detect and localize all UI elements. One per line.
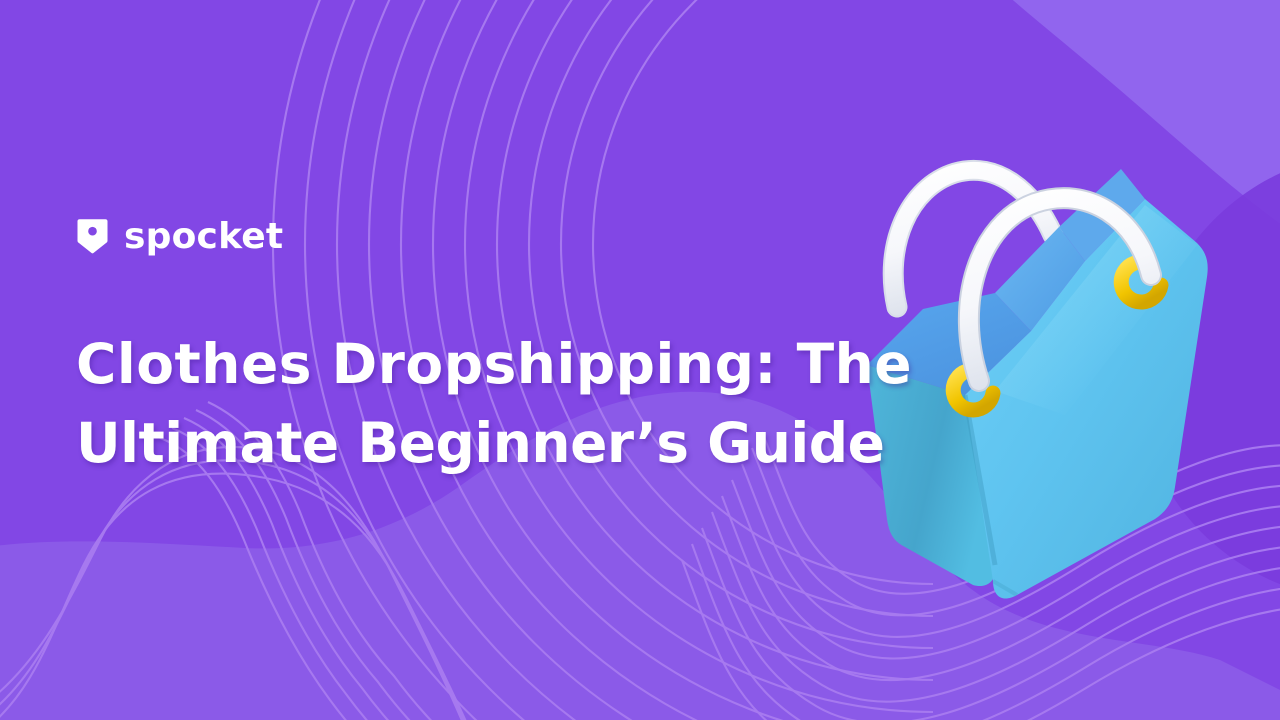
banner-hero: spocket Clothes Dropshipping: The Ultima… bbox=[0, 0, 1280, 720]
brand-logo[interactable]: spocket bbox=[76, 218, 283, 255]
brand-wordmark: spocket bbox=[124, 219, 283, 255]
page-title-line-2: Ultimate Beginner’s Guide bbox=[76, 404, 876, 483]
page-title-line-1: Clothes Dropshipping: The bbox=[76, 325, 876, 404]
spocket-tag-icon bbox=[76, 218, 109, 255]
page-title: Clothes Dropshipping: The Ultimate Begin… bbox=[76, 325, 876, 483]
